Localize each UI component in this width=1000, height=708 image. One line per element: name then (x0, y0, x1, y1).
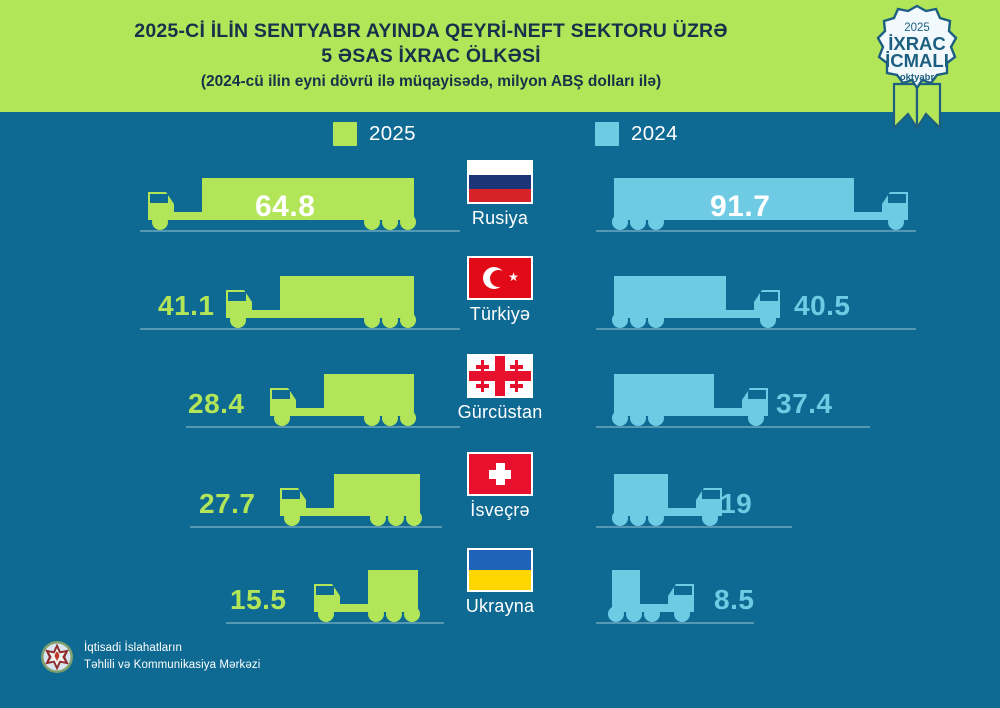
chart-legend: 2025 2024 (0, 122, 1000, 158)
badge-line-2: İCMALI (885, 50, 949, 71)
turkiye-flag-icon: ★ (467, 256, 533, 300)
switzerland-flag-icon (467, 452, 533, 496)
flag-cell-turkiye: ★ Türkiyə (0, 256, 1000, 325)
georgia-flag-icon (467, 354, 533, 398)
flag-cell-ukrayna: Ukrayna (0, 548, 1000, 617)
infographic-canvas: 2025-Cİ İLİN SENTYABR AYINDA QEYRİ-NEFT … (0, 0, 1000, 708)
flag-cell-gurcustan: Gürcüstan (0, 354, 1000, 423)
russia-flag-icon (467, 160, 533, 204)
footer-org-name: İqtisadi İslahatların Təhlili və Kommuni… (84, 640, 260, 673)
badge-month: oktyabr (900, 72, 935, 83)
footer-line-2: Təhlili və Kommunikasiya Mərkəzi (84, 657, 260, 674)
header-title-block: 2025-Cİ İLİN SENTYABR AYINDA QEYRİ-NEFT … (0, 0, 862, 112)
chart-row-turkiye: 41.1 40.5 ★ T (0, 258, 1000, 358)
footer-line-1: İqtisadi İslahatların (84, 640, 260, 657)
chart-row-rusiya: 64.8 91.7 Rusiya (0, 160, 1000, 260)
page-title-line-2: 5 ƏSAS İXRAC ÖLKƏSİ (321, 44, 541, 69)
legend-swatch-2024 (595, 122, 619, 146)
country-label-gurcustan: Gürcüstan (458, 402, 543, 423)
chart-row-gurcustan: 28.4 37.4 (0, 356, 1000, 456)
country-label-rusiya: Rusiya (472, 208, 528, 229)
flag-cell-isvecre: İsveçrə (0, 452, 1000, 521)
flag-cell-rusiya: Rusiya (0, 160, 1000, 229)
legend-label-2025: 2025 (369, 122, 416, 146)
chart-row-isvecre: 27.7 19 İsveçrə (0, 456, 1000, 556)
export-review-badge: 2025 İXRAC İCMALI oktyabr (864, 2, 970, 130)
country-label-turkiye: Türkiyə (470, 304, 530, 325)
legend-swatch-2025 (333, 122, 357, 146)
azerbaijan-star-emblem-icon (40, 640, 74, 674)
country-label-isvecre: İsveçrə (470, 500, 529, 521)
header-band: 2025-Cİ İLİN SENTYABR AYINDA QEYRİ-NEFT … (0, 0, 1000, 112)
page-title-line-1: 2025-Cİ İLİN SENTYABR AYINDA QEYRİ-NEFT … (134, 19, 727, 44)
legend-item-2024: 2024 (595, 122, 678, 146)
page-subtitle: (2024-cü ilin eyni dövrü ilə müqayisədə,… (201, 70, 661, 93)
legend-item-2025: 2025 (333, 122, 416, 146)
country-label-ukrayna: Ukrayna (466, 596, 534, 617)
footer: İqtisadi İslahatların Təhlili və Kommuni… (40, 640, 260, 674)
ukraine-flag-icon (467, 548, 533, 592)
legend-label-2024: 2024 (631, 122, 678, 146)
chart-row-ukrayna: 15.5 8.5 Ukrayna (0, 552, 1000, 652)
